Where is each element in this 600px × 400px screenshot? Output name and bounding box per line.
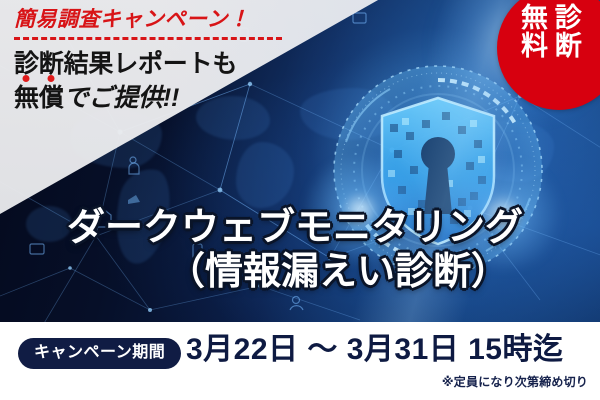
headline-sub-line-2-tail: でご提供!! xyxy=(64,84,179,112)
page-title: ダークウェブモニタリング （情報漏えい診断） xyxy=(0,206,590,295)
campaign-kicker: 簡易調査キャンペーン！ xyxy=(14,8,344,33)
free-badge-col-right: 無料 xyxy=(516,3,547,59)
campaign-period-bar: キャンペーン期間 3月22日 ～ 3月31日 15時迄 ※定員になり次第締め切り xyxy=(0,322,600,400)
free-badge-col-left: 診断 xyxy=(550,3,581,59)
title-line-2: （情報漏えい診断） xyxy=(0,250,590,294)
emphasis-char-2: 償 xyxy=(39,84,64,112)
emphasis-char-1: 無 xyxy=(14,84,39,112)
campaign-period-dates: 3月22日 ～ 3月31日 15時迄 xyxy=(186,332,563,368)
campaign-period-note: ※定員になり次第締め切り xyxy=(442,376,588,389)
headline-sub-line-1: 診断結果レポートも xyxy=(14,50,344,78)
title-line-1: ダークウェブモニタリング xyxy=(0,206,590,250)
dashed-divider xyxy=(14,37,282,40)
campaign-banner: 簡易調査キャンペーン！ 診断結果レポートも 無償でご提供!! 無料 診断 ダーク… xyxy=(0,0,600,400)
campaign-period-label: キャンペーン期間 xyxy=(18,338,181,369)
headline-sub-line-2: 無償でご提供!! xyxy=(14,84,344,112)
headline-block: 簡易調査キャンペーン！ 診断結果レポートも 無償でご提供!! xyxy=(14,8,344,112)
